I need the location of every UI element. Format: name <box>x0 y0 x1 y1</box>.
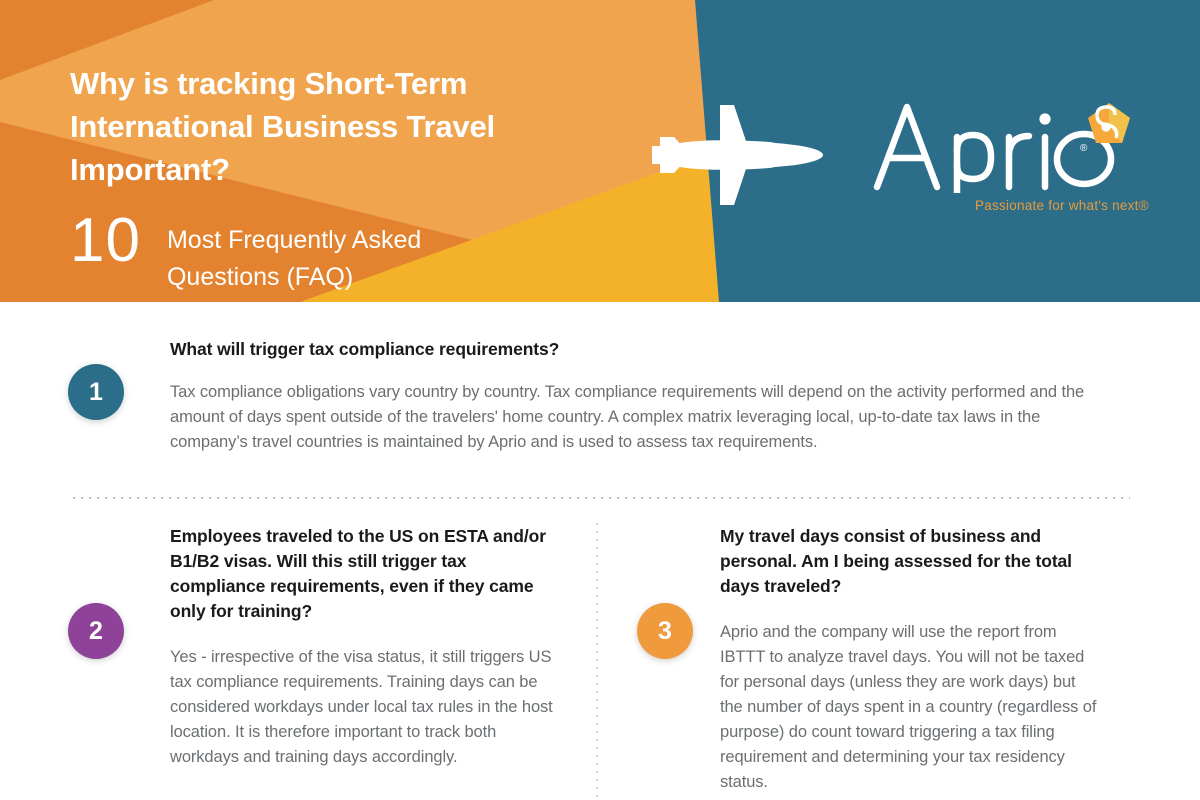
page-title: Why is tracking Short-Term International… <box>70 62 630 191</box>
horizontal-dotted-divider <box>70 497 1130 499</box>
vertical-dotted-divider <box>596 520 598 800</box>
faq-section: 1 What will trigger tax compliance requi… <box>0 302 1200 800</box>
faq-subtitle: Most Frequently Asked Questions (FAQ) <box>167 222 497 296</box>
faq-number-badge-2: 2 <box>68 603 124 659</box>
faq-count-number: 10 <box>70 208 141 274</box>
faq-answer-2: Yes - irrespective of the visa status, i… <box>170 645 560 770</box>
faq-answer-3: Aprio and the company will use the repor… <box>720 620 1100 795</box>
faq-answer-1: Tax compliance obligations vary country … <box>170 380 1105 455</box>
aprio-logo: ® Passionate for what's next® <box>873 95 1163 240</box>
airplane-icon <box>650 88 825 223</box>
aprio-tagline: Passionate for what's next® <box>975 198 1149 213</box>
registered-trademark-mark: ® <box>1080 143 1087 154</box>
header-banner: Why is tracking Short-Term International… <box>0 0 1200 302</box>
faq-number-badge-3: 3 <box>637 603 693 659</box>
faq-number-badge-1: 1 <box>68 364 124 420</box>
faq-count-row: 10 Most Frequently Asked Questions (FAQ) <box>70 208 497 296</box>
faq-question-1: What will trigger tax compliance require… <box>170 337 1130 362</box>
faq-question-3: My travel days consist of business and p… <box>720 524 1100 599</box>
infographic-page: Why is tracking Short-Term International… <box>0 0 1200 800</box>
faq-question-2: Employees traveled to the US on ESTA and… <box>170 524 550 624</box>
aprio-pentagon-icon <box>1085 101 1133 149</box>
